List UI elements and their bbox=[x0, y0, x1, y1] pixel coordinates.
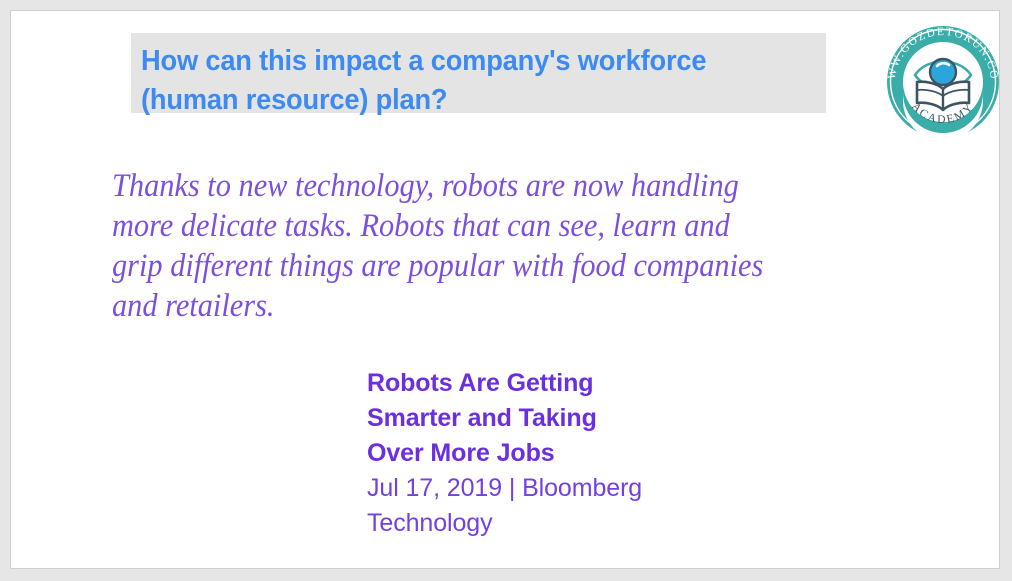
citation-block: Robots Are Getting Smarter and Taking Ov… bbox=[367, 366, 767, 541]
slide-canvas: How can this impact a company's workforc… bbox=[10, 10, 1000, 569]
citation-source: Jul 17, 2019 | Bloomberg Technology bbox=[367, 471, 767, 541]
heading-banner: How can this impact a company's workforc… bbox=[131, 33, 826, 113]
academy-logo: WWW.GOZDETORUN.COM ACADEMY bbox=[879, 17, 1000, 145]
quote-paragraph: Thanks to new technology, robots are now… bbox=[112, 166, 784, 326]
citation-title: Robots Are Getting Smarter and Taking Ov… bbox=[367, 366, 767, 471]
page-title: How can this impact a company's workforc… bbox=[141, 42, 785, 120]
